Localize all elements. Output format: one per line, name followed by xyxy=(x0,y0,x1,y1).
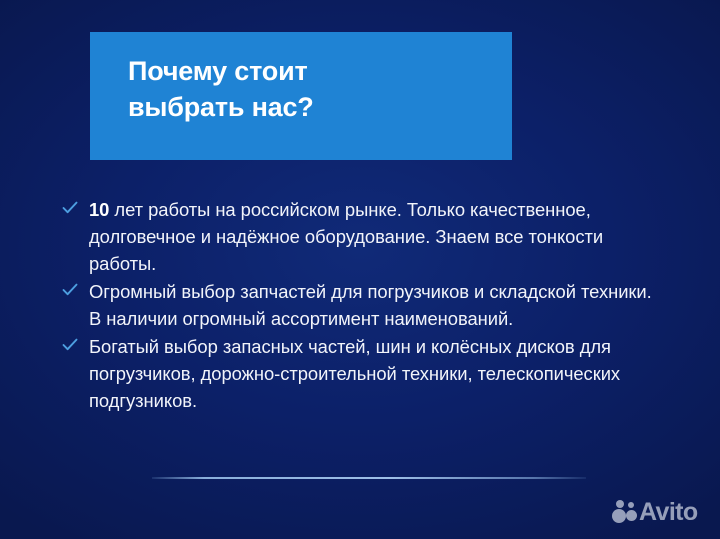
list-item-text: Богатый выбор запасных частей, шин и кол… xyxy=(89,333,662,414)
list-item-body: Огромный выбор запчастей для погрузчиков… xyxy=(89,281,652,329)
avito-watermark: Avito xyxy=(612,499,698,525)
benefits-list: 10 лет работы на российском рынке. Тольк… xyxy=(62,196,662,415)
divider xyxy=(152,477,586,479)
list-item: Богатый выбор запасных частей, шин и кол… xyxy=(62,333,662,414)
check-icon xyxy=(62,337,78,353)
avito-dots-icon xyxy=(612,499,638,525)
list-item: Огромный выбор запчастей для погрузчиков… xyxy=(62,278,662,332)
list-item-text: Огромный выбор запчастей для погрузчиков… xyxy=(89,278,662,332)
list-item-body: Богатый выбор запасных частей, шин и кол… xyxy=(89,336,620,411)
title-block: Почему стоит выбрать нас? xyxy=(90,32,512,160)
avito-wordmark: Avito xyxy=(639,500,698,525)
check-icon xyxy=(62,200,78,216)
check-icon xyxy=(62,282,78,298)
list-item: 10 лет работы на российском рынке. Тольк… xyxy=(62,196,662,277)
list-item-body: лет работы на российском рынке. Только к… xyxy=(89,199,603,274)
list-item-lead: 10 xyxy=(89,199,109,220)
list-item-text: 10 лет работы на российском рынке. Тольк… xyxy=(89,196,662,277)
slide-canvas: Почему стоит выбрать нас? 10 лет работы … xyxy=(0,0,720,539)
page-title: Почему стоит выбрать нас? xyxy=(128,54,512,125)
